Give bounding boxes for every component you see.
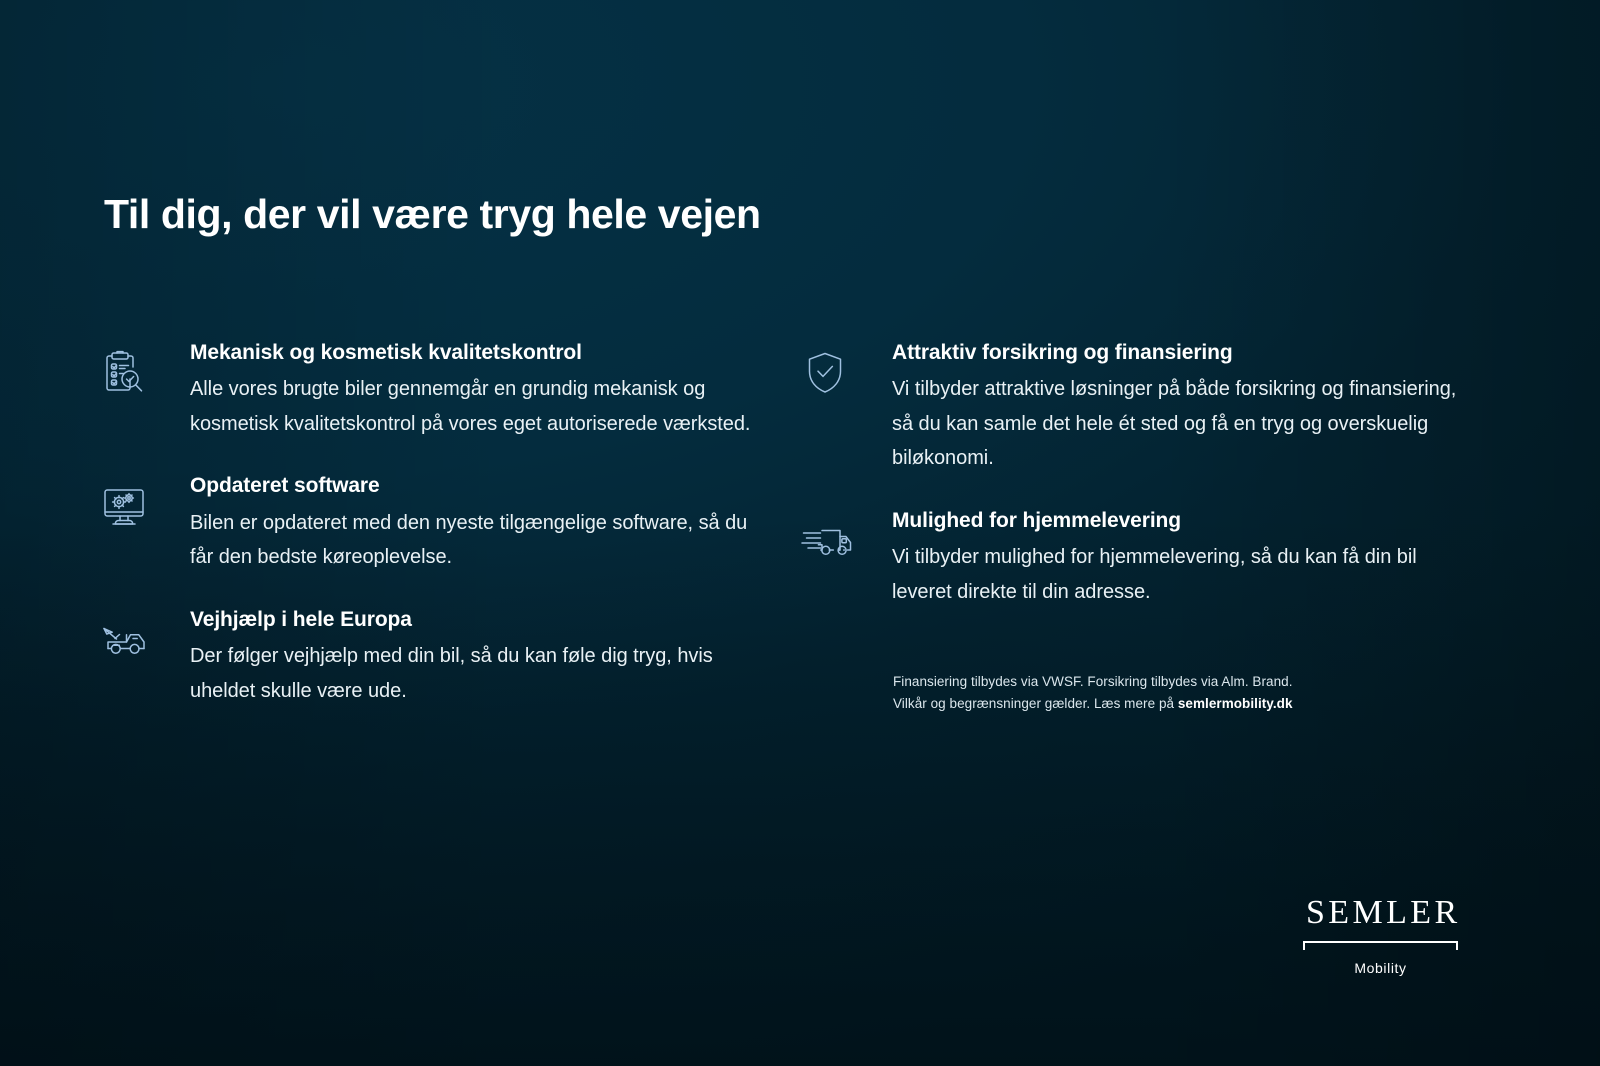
feature-body: Mekanisk og kosmetisk kvalitetskontrol A… [160, 340, 758, 441]
feature-item: Opdateret software Bilen er opdateret me… [98, 473, 758, 574]
feature-title: Mekanisk og kosmetisk kvalitetskontrol [190, 340, 758, 366]
logo-wordmark: SEMLER [1303, 896, 1458, 930]
feature-body: Vejhjælp i hele Europa Der følger vejhjæ… [160, 607, 758, 708]
page-title: Til dig, der vil være tryg hele vejen [104, 192, 761, 237]
feature-text: Vi tilbyder attraktive løsninger på både… [892, 372, 1480, 476]
feature-text: Alle vores brugte biler gennemgår en gru… [190, 372, 758, 441]
left-feature-column: Mekanisk og kosmetisk kvalitetskontrol A… [98, 340, 758, 708]
disclaimer-line-2: Vilkår og begrænsninger gælder. Læs mere… [893, 693, 1413, 715]
page-root: Til dig, der vil være tryg hele vejen [0, 0, 1600, 1066]
semlermobility-link[interactable]: semlermobility.dk [1178, 696, 1293, 711]
feature-title: Opdateret software [190, 473, 758, 499]
feature-text: Bilen er opdateret med den nyeste tilgæn… [190, 506, 758, 575]
feature-body: Attraktiv forsikring og finansiering Vi … [862, 340, 1480, 476]
feature-title: Vejhjælp i hele Europa [190, 607, 758, 633]
semler-mobility-logo: SEMLER Mobility [1303, 896, 1458, 976]
feature-title: Mulighed for hjemmelevering [892, 508, 1480, 534]
feature-item: Mulighed for hjemmelevering Vi tilbyder … [800, 508, 1480, 609]
right-feature-column: Attraktiv forsikring og finansiering Vi … [800, 340, 1480, 609]
shield-check-icon [800, 340, 862, 396]
delivery-truck-icon [800, 508, 862, 564]
feature-item: Attraktiv forsikring og finansiering Vi … [800, 340, 1480, 476]
logo-divider-rule [1303, 941, 1458, 951]
disclaimer-line-2-prefix: Vilkår og begrænsninger gælder. Læs mere… [893, 696, 1178, 711]
feature-text: Der følger vejhjælp med din bil, så du k… [190, 639, 758, 708]
feature-title: Attraktiv forsikring og finansiering [892, 340, 1480, 366]
monitor-gears-icon [98, 473, 160, 529]
feature-item: Mekanisk og kosmetisk kvalitetskontrol A… [98, 340, 758, 441]
clipboard-checklist-magnifier-icon [98, 340, 160, 396]
tow-truck-icon [98, 607, 160, 663]
feature-text: Vi tilbyder mulighed for hjemmelevering,… [892, 540, 1480, 609]
feature-item: Vejhjælp i hele Europa Der følger vejhjæ… [98, 607, 758, 708]
feature-body: Opdateret software Bilen er opdateret me… [160, 473, 758, 574]
feature-body: Mulighed for hjemmelevering Vi tilbyder … [862, 508, 1480, 609]
logo-subtitle: Mobility [1303, 960, 1458, 976]
disclaimer: Finansiering tilbydes via VWSF. Forsikri… [893, 671, 1413, 715]
disclaimer-line-1: Finansiering tilbydes via VWSF. Forsikri… [893, 671, 1413, 693]
